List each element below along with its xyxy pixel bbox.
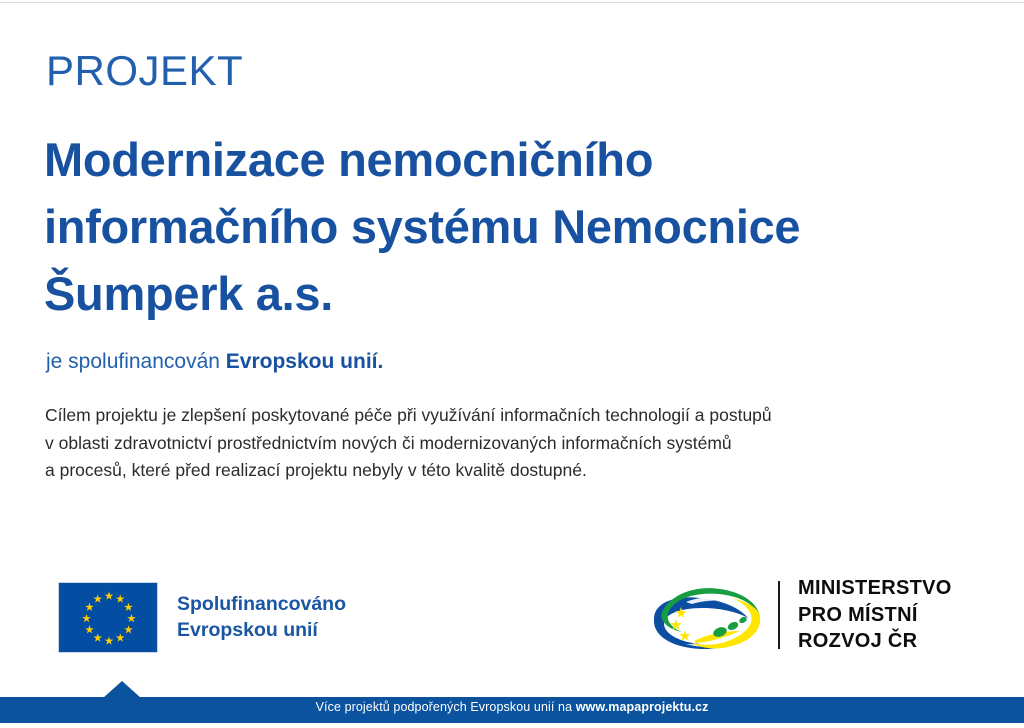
funding-statement: je spolufinancován Evropskou unií. — [46, 350, 383, 374]
project-description: Cílem projektu je zlepšení poskytované p… — [45, 402, 1005, 485]
logo-row: Spolufinancováno Evropskou unií — [0, 565, 1024, 665]
eu-logo-text-line-1: Spolufinancováno — [177, 592, 346, 618]
project-description-line-3: a procesů, které před realizací projektu… — [45, 457, 1005, 485]
mmr-divider — [778, 581, 780, 649]
eu-logo-text-line-2: Evropskou unií — [177, 618, 346, 644]
page-title-line-3: Šumperk a.s. — [44, 260, 984, 327]
footer-notch — [103, 681, 141, 698]
footer-text-prefix: Více projektů podpořených Evropskou unií… — [316, 700, 576, 714]
ministry-swirl-icon — [648, 575, 766, 655]
mmr-logo-text-line-1: MINISTERSTVO — [798, 575, 952, 601]
footer-text: Více projektů podpořených Evropskou unií… — [0, 700, 1024, 714]
mmr-logo-text-line-2: PRO MÍSTNÍ — [798, 602, 952, 628]
page-title-line-2: informačního systému Nemocnice — [44, 193, 984, 260]
funding-statement-emphasis: Evropskou unií. — [226, 350, 384, 373]
mmr-logo-text-line-3: ROZVOJ ČR — [798, 628, 952, 654]
funding-statement-prefix: je spolufinancován — [46, 350, 226, 373]
footer-link[interactable]: www.mapaprojektu.cz — [576, 700, 709, 714]
eu-logo-text: Spolufinancováno Evropskou unií — [177, 592, 346, 643]
page-title-line-1: Modernizace nemocničního — [44, 126, 984, 193]
project-description-line-1: Cílem projektu je zlepšení poskytované p… — [45, 402, 1005, 430]
page-eyebrow: PROJEKT — [46, 50, 243, 92]
project-description-line-2: v oblasti zdravotnictví prostřednictvím … — [45, 430, 1005, 458]
eu-logo-block: Spolufinancováno Evropskou unií — [58, 582, 346, 653]
top-divider — [0, 2, 1024, 3]
mmr-logo-block: MINISTERSTVO PRO MÍSTNÍ ROZVOJ ČR — [648, 575, 952, 655]
poster-canvas: PROJEKT Modernizace nemocničního informa… — [0, 0, 1024, 728]
eu-flag-icon — [58, 582, 158, 653]
footer-underfill — [0, 723, 1024, 728]
page-title: Modernizace nemocničního informačního sy… — [44, 126, 984, 328]
mmr-logo-text: MINISTERSTVO PRO MÍSTNÍ ROZVOJ ČR — [798, 575, 952, 654]
eu-stars-icon — [59, 583, 159, 654]
